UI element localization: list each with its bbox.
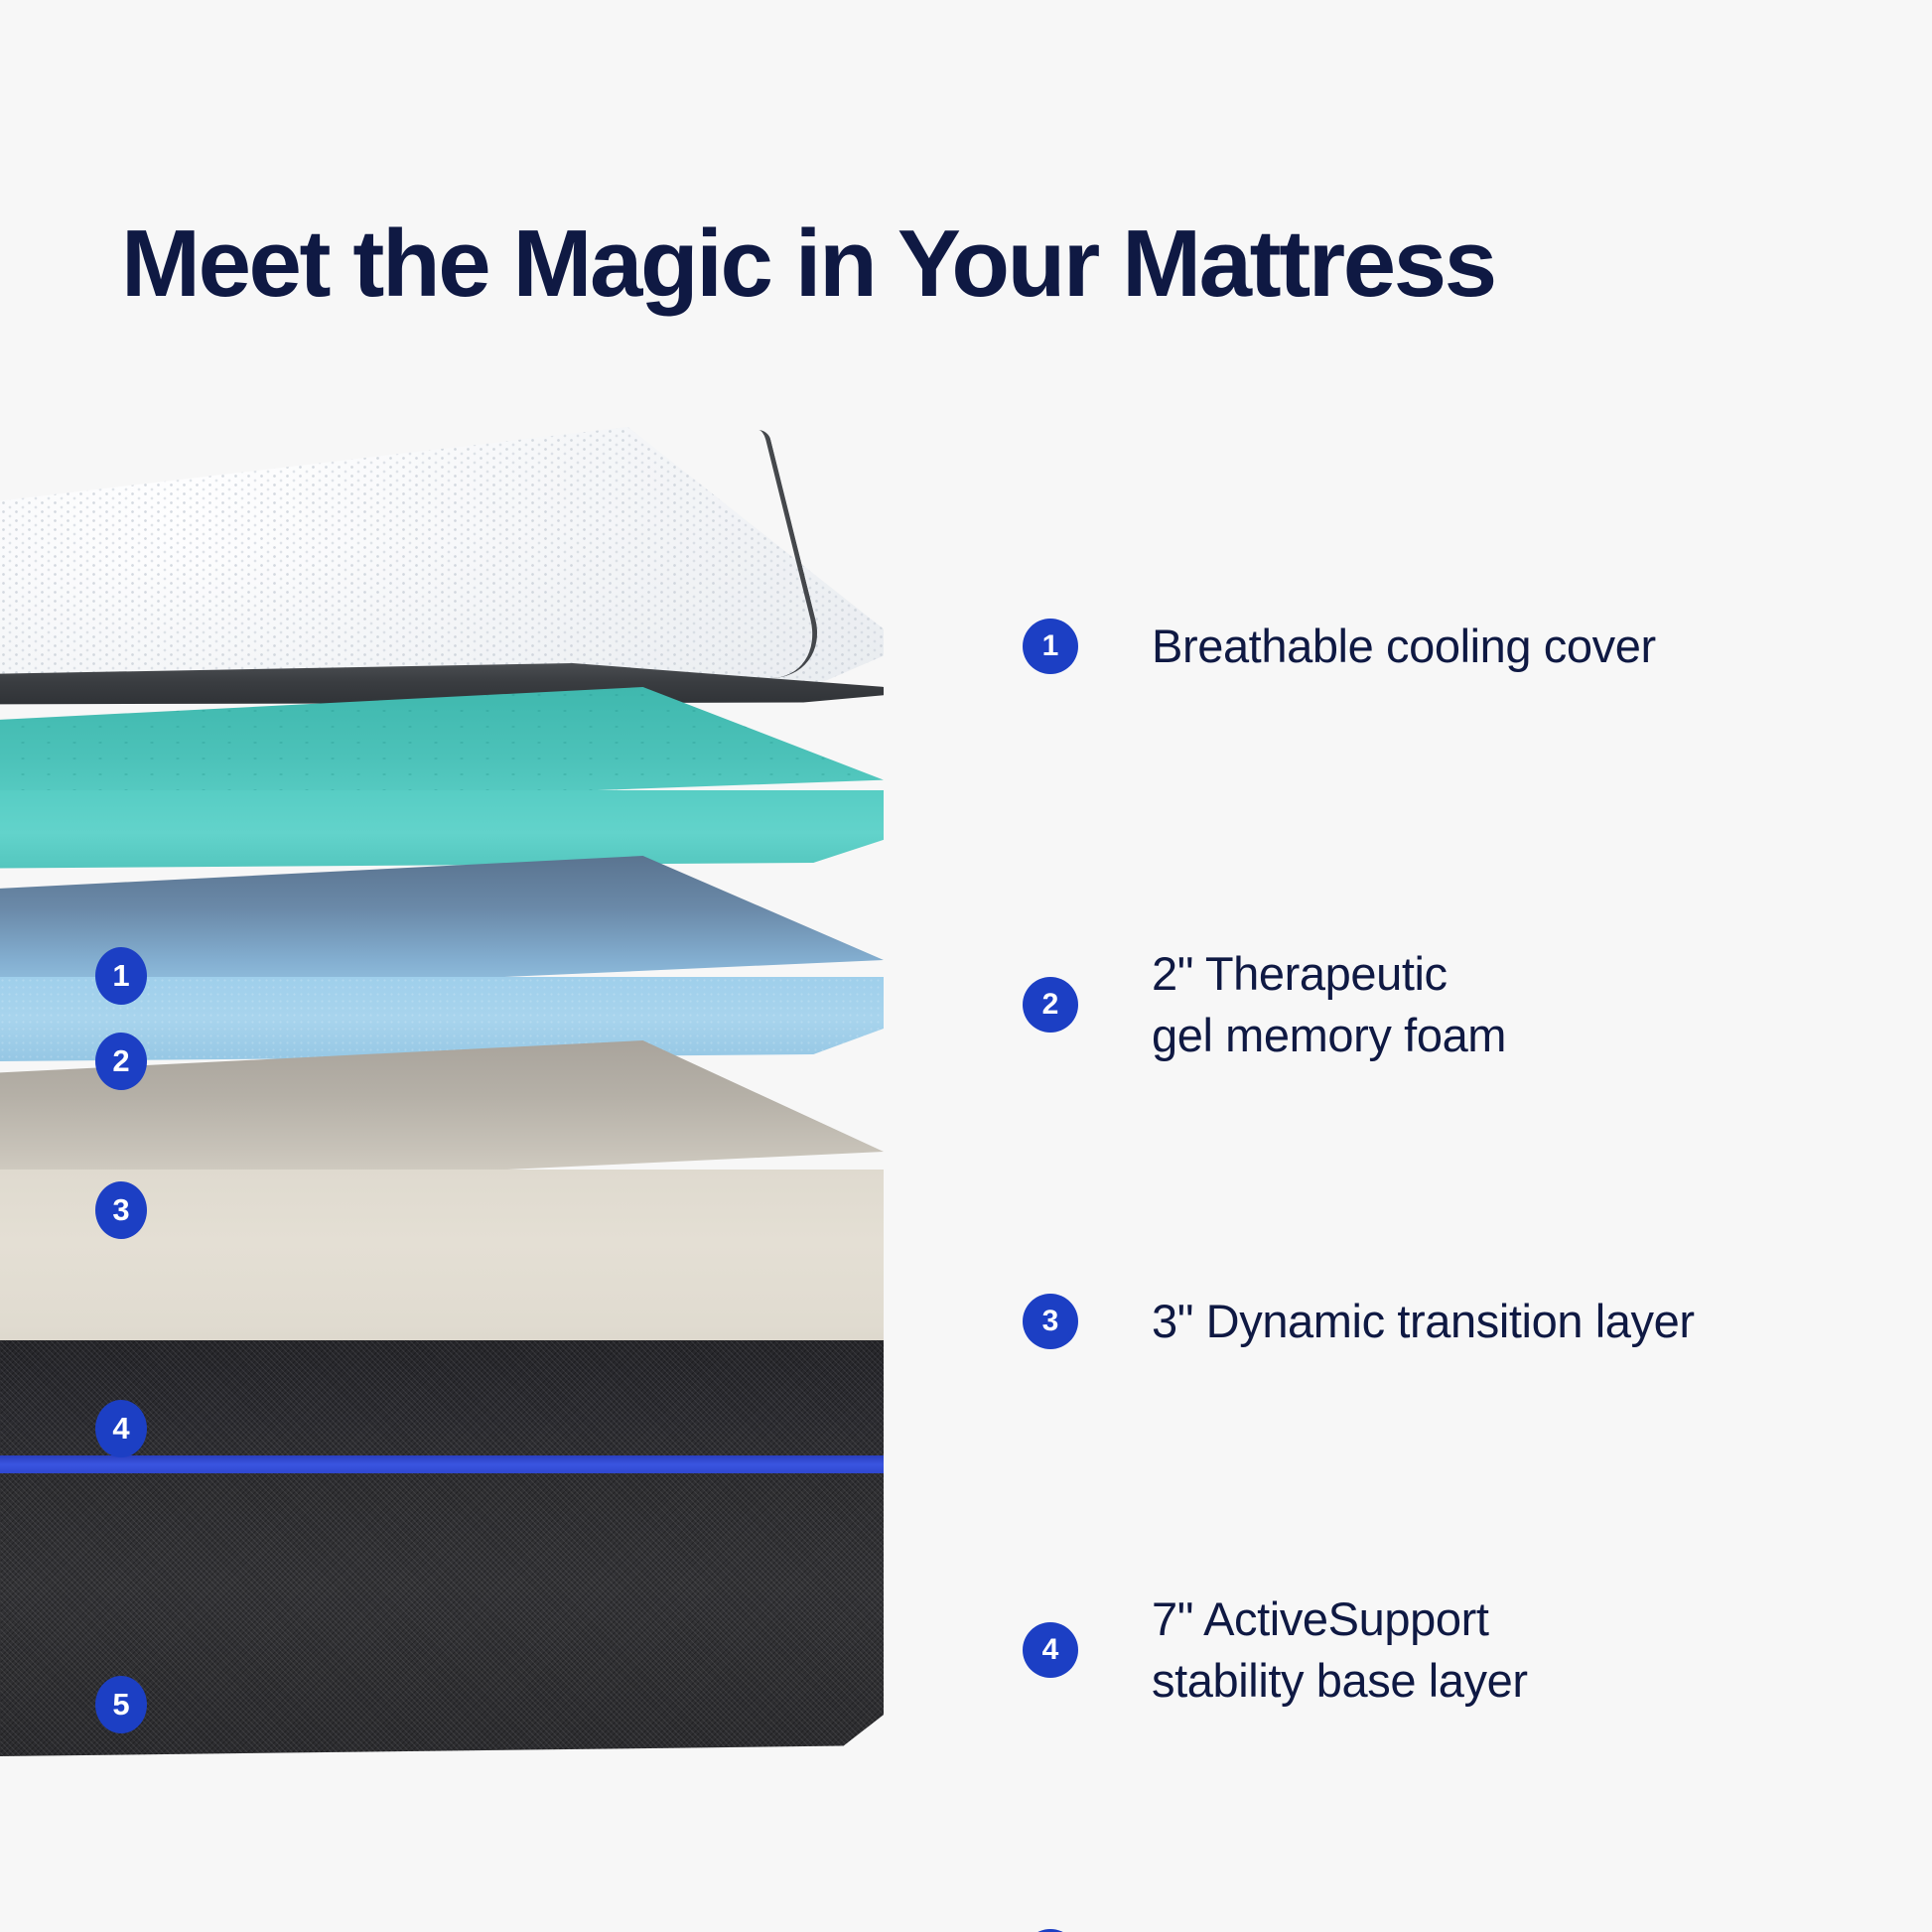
stack-badge-1[interactable]: 1: [95, 947, 147, 1005]
legend-badge-1: 1: [1023, 619, 1078, 674]
legend-label-4: 7" ActiveSupport stability base layer: [1152, 1588, 1528, 1712]
stack-badge-5[interactable]: 5: [95, 1676, 147, 1733]
stack-badge-2[interactable]: 2: [95, 1033, 147, 1090]
legend-badge-2: 2: [1023, 977, 1078, 1033]
stack-badge-4[interactable]: 4: [95, 1400, 147, 1457]
legend-label-1: Breathable cooling cover: [1152, 616, 1656, 677]
legend-label-2: 2" Therapeutic gel memory foam: [1152, 943, 1506, 1066]
layer-breathable-cooling-cover: [0, 427, 878, 725]
legend-badge-3: 3: [1023, 1294, 1078, 1349]
stack-badge-3[interactable]: 3: [95, 1181, 147, 1239]
legend-item-dynamic-transition-layer[interactable]: 3 3" Dynamic transition layer: [1023, 1291, 1695, 1352]
mattress-layer-stack-illustration: 1 2 3 4 5: [0, 427, 894, 1747]
legend-badge-4: 4: [1023, 1622, 1078, 1678]
mattress-layers-infographic: Meet the Magic in Your Mattress: [0, 0, 1932, 1932]
legend-item-gel-memory-foam[interactable]: 2 2" Therapeutic gel memory foam: [1023, 943, 1506, 1066]
page-title: Meet the Magic in Your Mattress: [121, 210, 1829, 318]
legend-item-activesupport-base-layer[interactable]: 4 7" ActiveSupport stability base layer: [1023, 1588, 1528, 1712]
legend-item-breathable-cooling-cover[interactable]: 1 Breathable cooling cover: [1023, 616, 1656, 677]
legend-label-3: 3" Dynamic transition layer: [1152, 1291, 1695, 1352]
legend-item-shift-resistant-lower-cover[interactable]: 5 Shift-resistant lower cover: [1023, 1926, 1678, 1932]
legend-label-5: Shift-resistant lower cover: [1152, 1926, 1678, 1932]
